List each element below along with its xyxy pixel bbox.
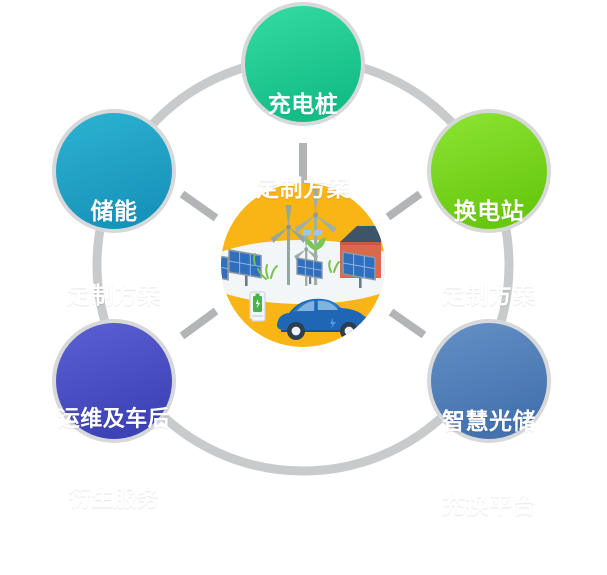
- node-smart-platform-line2: 充换平台: [409, 491, 569, 519]
- node-energy-storage[interactable]: [52, 109, 176, 233]
- node-charging-pile[interactable]: [241, 2, 365, 126]
- node-smart-platform[interactable]: [427, 319, 551, 443]
- circle-diagram: [0, 0, 607, 482]
- diagram-canvas: 充电桩 定制方案 换电站 定制方案 智慧光储 充换平台 运维及车后 衍生服务 储…: [0, 0, 607, 482]
- node-swap-station[interactable]: [427, 109, 551, 233]
- node-om-service[interactable]: [52, 319, 176, 443]
- center-illustration: [196, 183, 408, 347]
- roof-solar-panel-1: [302, 230, 311, 236]
- spoke-to-smart-platform: [391, 312, 424, 335]
- node-om-service-line2: 衍生服务: [34, 486, 194, 513]
- spoke-to-energy-storage: [182, 194, 216, 218]
- spoke-to-om-service: [182, 311, 216, 336]
- roof-solar-panel-2: [313, 230, 322, 236]
- spoke-to-swap-station: [388, 194, 420, 217]
